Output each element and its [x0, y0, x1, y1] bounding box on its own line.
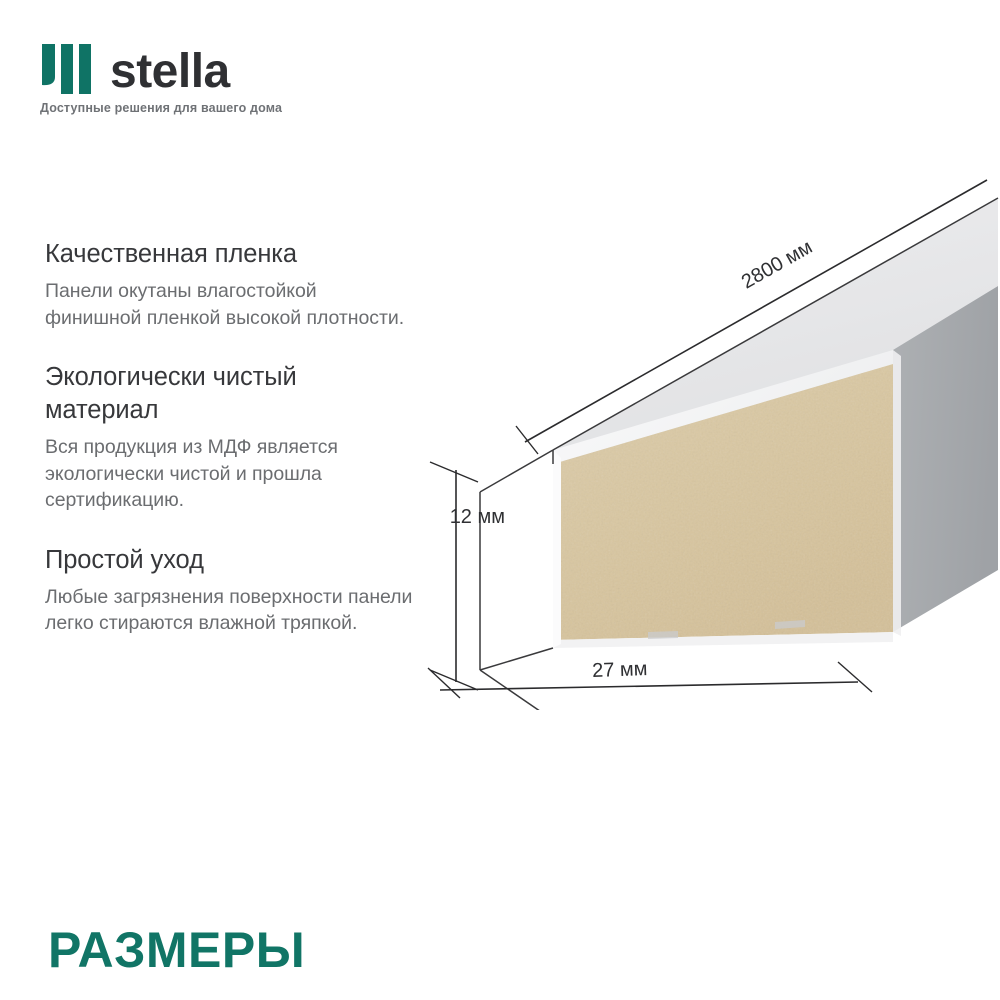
- sizes-heading: РАЗМЕРЫ: [48, 922, 305, 978]
- dimension-length-label: 2800 мм: [738, 236, 816, 293]
- panel-groove-notch: [648, 631, 678, 639]
- feature-list: Качественная пленка Панели окутаны влаго…: [45, 238, 415, 637]
- feature-body: Любые загрязнения поверхности панели лег…: [45, 584, 415, 637]
- panel-right-edge-highlight: [893, 350, 901, 636]
- feature-title: Качественная пленка: [45, 238, 415, 271]
- feature-item: Простой уход Любые загрязнения поверхнос…: [45, 544, 415, 637]
- feature-body: Панели окутаны влагостойкой финишной пле…: [45, 278, 415, 331]
- panel-svg: 2800 мм: [420, 170, 1000, 710]
- dimension-height-label: 12 мм: [425, 505, 505, 529]
- feature-item: Экологически чистый материал Вся продукц…: [45, 361, 415, 514]
- stella-bars-logo-icon: [40, 44, 96, 94]
- dimension-width: 27 мм: [428, 658, 872, 698]
- panel-film-left-edge: [553, 450, 561, 648]
- dimension-width-label: 27 мм: [592, 658, 648, 682]
- feature-title: Экологически чистый материал: [45, 361, 415, 427]
- dimension-height: 12 мм: [430, 462, 478, 690]
- logo-row: stella: [40, 42, 460, 94]
- feature-body: Вся продукция из МДФ является экологичес…: [45, 434, 415, 514]
- feature-title: Простой уход: [45, 544, 415, 577]
- feature-item: Качественная пленка Панели окутаны влаго…: [45, 238, 415, 331]
- mdf-panel-3d-illustration: 2800 мм: [420, 170, 1000, 710]
- logo-tagline: Доступные решения для вашего дома: [40, 101, 460, 115]
- logo-wordmark: stella: [110, 48, 230, 96]
- brand-logo: stella Доступные решения для вашего дома: [40, 42, 460, 115]
